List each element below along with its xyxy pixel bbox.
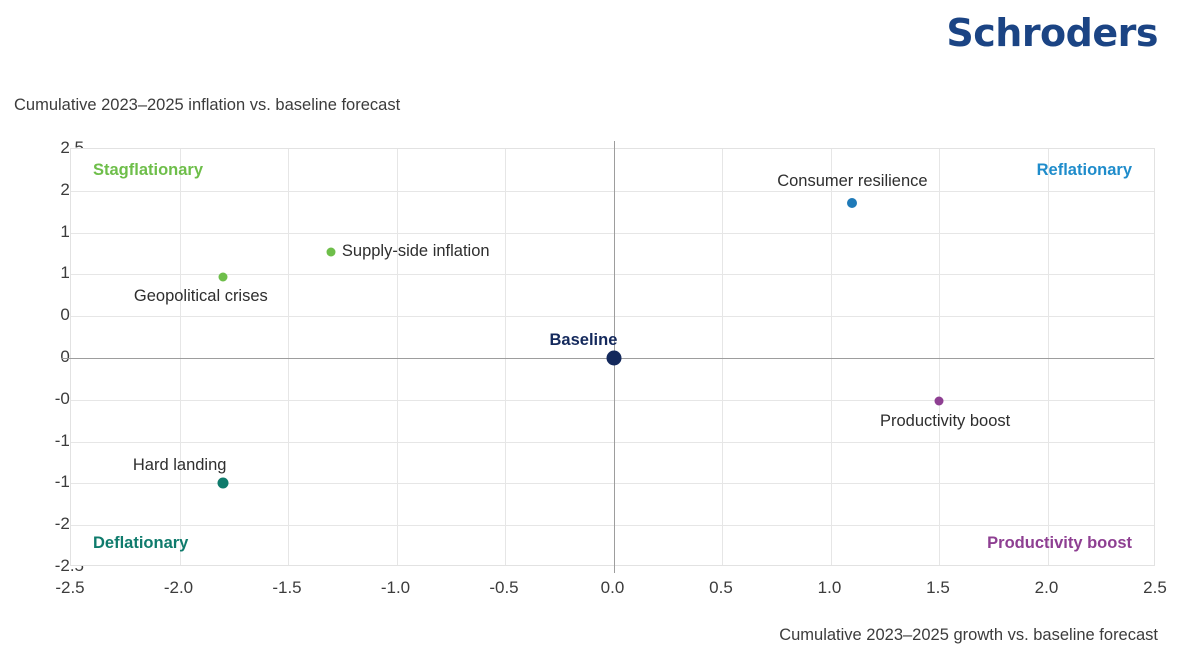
gridline-vertical xyxy=(180,149,181,565)
data-point-label: Consumer resilience xyxy=(777,172,927,191)
quadrant-label-top-left: Stagflationary xyxy=(93,161,203,180)
data-point[interactable] xyxy=(847,198,857,208)
x-tick-label: 2.0 xyxy=(1012,578,1082,598)
x-tick-label: 1.0 xyxy=(795,578,865,598)
data-point-label: Baseline xyxy=(550,331,618,350)
gridline-vertical xyxy=(722,149,723,565)
x-tick-label: -0.5 xyxy=(469,578,539,598)
data-point[interactable] xyxy=(606,351,621,366)
data-point-label: Productivity boost xyxy=(880,412,1010,431)
quadrant-label-bottom-left: Deflationary xyxy=(93,534,188,553)
data-point-label: Geopolitical crises xyxy=(134,287,268,306)
data-point-label: Supply-side inflation xyxy=(342,242,490,261)
x-tick-label: -2.0 xyxy=(144,578,214,598)
gridline-vertical xyxy=(939,149,940,565)
gridline-horizontal xyxy=(71,191,1154,192)
data-point-label: Hard landing xyxy=(133,456,227,475)
quadrant-label-bottom-right: Productivity boost xyxy=(987,534,1132,553)
gridline-vertical xyxy=(831,149,832,565)
gridline-horizontal xyxy=(71,483,1154,484)
x-axis-title: Cumulative 2023–2025 growth vs. baseline… xyxy=(779,626,1158,645)
gridline-vertical xyxy=(288,149,289,565)
x-tick-label: -1.0 xyxy=(361,578,431,598)
x-tick-label: 2.5 xyxy=(1120,578,1180,598)
data-point[interactable] xyxy=(217,478,228,489)
gridline-vertical xyxy=(1048,149,1049,565)
gridline-vertical xyxy=(505,149,506,565)
x-tick-label: -1.5 xyxy=(252,578,322,598)
gridline-vertical xyxy=(397,149,398,565)
schroders-logo: Schroders xyxy=(946,14,1158,52)
gridline-horizontal xyxy=(71,316,1154,317)
gridline-horizontal xyxy=(71,233,1154,234)
gridline-horizontal xyxy=(71,400,1154,401)
gridline-horizontal xyxy=(71,274,1154,275)
x-tick-label: 0.5 xyxy=(686,578,756,598)
y-axis-title: Cumulative 2023–2025 inflation vs. basel… xyxy=(14,96,400,115)
data-point[interactable] xyxy=(218,272,227,281)
data-point[interactable] xyxy=(327,247,336,256)
x-tick-label: 1.5 xyxy=(903,578,973,598)
x-tick-label: 0.0 xyxy=(578,578,648,598)
x-tick-label: -2.5 xyxy=(35,578,105,598)
quadrant-label-top-right: Reflationary xyxy=(1037,161,1132,180)
data-point[interactable] xyxy=(935,397,944,406)
gridline-horizontal xyxy=(71,525,1154,526)
scatter-plot-area: StagflationaryReflationaryDeflationaryPr… xyxy=(70,148,1155,566)
gridline-horizontal xyxy=(71,442,1154,443)
